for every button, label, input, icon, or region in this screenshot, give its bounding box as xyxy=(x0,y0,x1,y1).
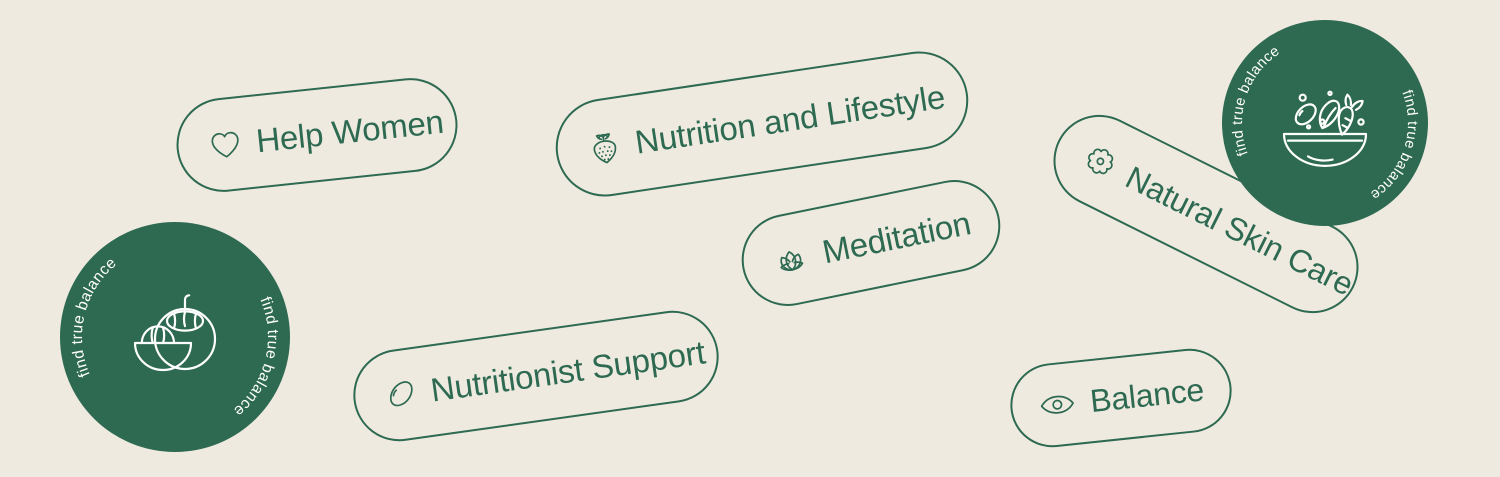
strawberry-icon xyxy=(585,127,624,168)
heart-icon xyxy=(207,126,244,163)
chip-label: Nutritionist Support xyxy=(428,333,707,409)
badge-ring-text-bottom: find true balance xyxy=(1367,88,1420,203)
chip-nutrition-and-lifestyle[interactable]: Nutrition and Lifestyle xyxy=(549,45,975,203)
badge-find-true-balance-right[interactable]: find true balance find true balance xyxy=(1222,20,1428,226)
flower-icon xyxy=(1078,139,1124,185)
chip-balance[interactable]: Balance xyxy=(1006,345,1236,452)
mangosteen-fruit-icon xyxy=(119,287,231,387)
chip-label: Meditation xyxy=(819,204,974,271)
chip-label: Help Women xyxy=(254,103,445,160)
chip-help-women[interactable]: Help Women xyxy=(172,74,462,197)
badge-ring-text-bottom: find true balance xyxy=(230,294,281,419)
chip-meditation[interactable]: Meditation xyxy=(733,172,1008,314)
chip-label: Balance xyxy=(1088,371,1205,420)
eye-icon xyxy=(1037,390,1078,420)
sticker-canvas: Help Women xyxy=(0,0,1500,477)
badge-find-true-balance-left[interactable]: find true balance find true balance xyxy=(60,222,290,452)
chip-label: Nutrition and Lifestyle xyxy=(633,78,948,162)
lemon-icon xyxy=(381,376,419,414)
badge-ring-text-top: find true balance xyxy=(69,254,120,379)
lotus-icon xyxy=(769,240,813,279)
chip-nutritionist-support[interactable]: Nutritionist Support xyxy=(347,305,724,447)
salad-bowl-icon xyxy=(1275,76,1375,170)
